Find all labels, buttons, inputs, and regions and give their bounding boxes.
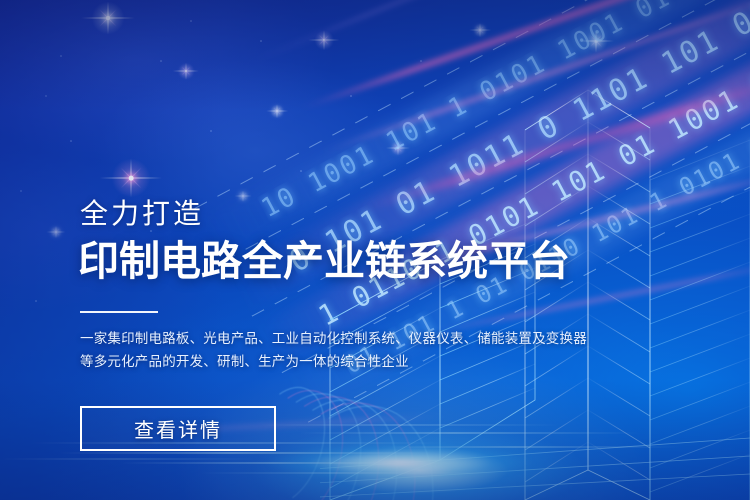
hero-subtitle: 一家集印制电路板、光电产品、工业自动化控制系统、仪器仪表、储能装置及变换器 等多… [80, 327, 550, 373]
hero-eyebrow: 全力打造 [80, 197, 204, 231]
hero-banner: 10 1001 101 1 0101 1001 01 101 10 1001 1… [0, 0, 750, 500]
hero-subtitle-line-1: 一家集印制电路板、光电产品、工业自动化控制系统、仪器仪表、储能装置及变换器 [80, 327, 550, 350]
hero-content: 全力打造 印制电路全产业链系统平台 一家集印制电路板、光电产品、工业自动化控制系… [0, 0, 750, 500]
hero-divider [80, 311, 158, 313]
view-details-button[interactable]: 查看详情 [80, 406, 276, 451]
hero-subtitle-line-2: 等多元化产品的开发、研制、生产为一体的综合性企业 [80, 350, 550, 373]
hero-headline: 印制电路全产业链系统平台 [78, 236, 570, 286]
